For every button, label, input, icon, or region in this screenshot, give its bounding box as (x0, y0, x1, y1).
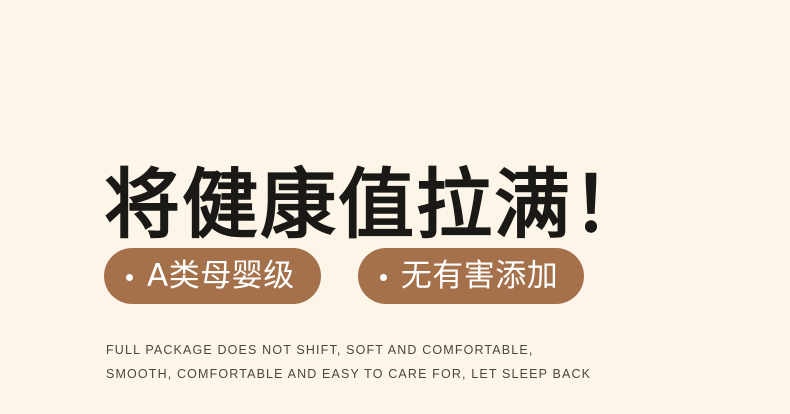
bullet-dot-icon (380, 274, 387, 281)
feature-pill-baby-grade[interactable]: A类母婴级 (104, 248, 321, 304)
bullet-dot-icon (126, 274, 133, 281)
headline-text: 将健康值拉满！ (104, 159, 650, 251)
caption-block: FULL PACKAGE DOES NOT SHIFT, SOFT AND CO… (106, 338, 591, 386)
promo-banner: 将健康值拉满！ A类母婴级 无有害添加 FULL PACKAGE DOES NO… (0, 0, 790, 414)
feature-pill-row: A类母婴级 无有害添加 (104, 248, 584, 304)
feature-pill-label: A类母婴级 (147, 259, 295, 293)
feature-pill-label: 无有害添加 (401, 259, 559, 293)
feature-pill-no-harmful-additives[interactable]: 无有害添加 (358, 248, 585, 304)
caption-line-2: SMOOTH, COMFORTABLE AND EASY TO CARE FOR… (106, 362, 591, 386)
caption-line-1: FULL PACKAGE DOES NOT SHIFT, SOFT AND CO… (106, 338, 591, 362)
